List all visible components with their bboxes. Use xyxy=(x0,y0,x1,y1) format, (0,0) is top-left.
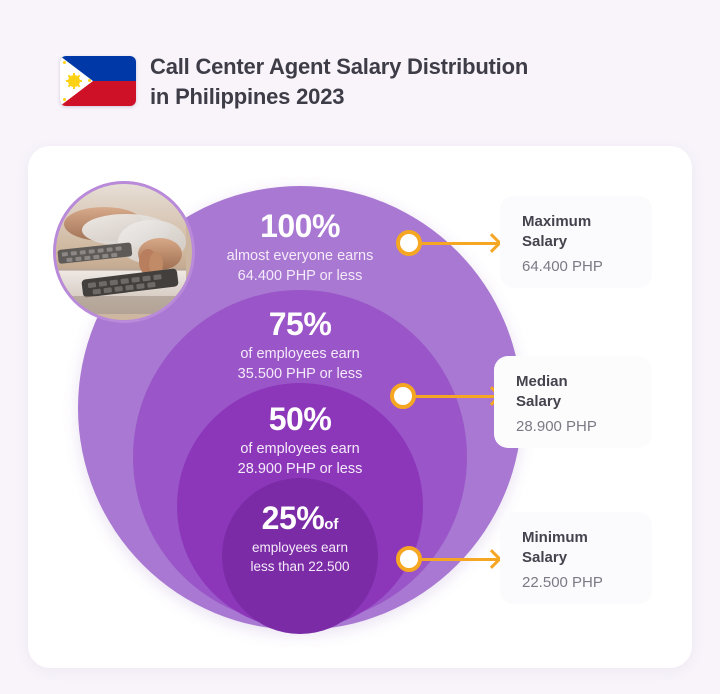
callout-minimum-amount: 22.500 PHP xyxy=(522,573,634,593)
page-title-line-2: in Philippines 2023 xyxy=(150,82,620,112)
callout-maximum-title-line-2: Salary xyxy=(522,232,634,252)
ring-25-percent-suffix: of xyxy=(324,516,338,533)
callout-maximum-title: Maximum Salary xyxy=(522,212,634,252)
connector-median xyxy=(390,381,498,411)
flag-star-icon xyxy=(88,79,91,82)
ring-25-percent-value: 25%of xyxy=(222,502,378,536)
agent-photo xyxy=(53,181,195,323)
connector-dot-icon xyxy=(390,383,416,409)
connector-arrow-icon xyxy=(415,395,498,398)
ring-25-description-line-1: employees earn xyxy=(222,538,378,557)
ring-50-percent-value: 50% xyxy=(177,403,423,437)
callout-minimum-salary: Minimum Salary 22.500 PHP xyxy=(500,512,652,604)
page-title-line-1: Call Center Agent Salary Distribution xyxy=(150,52,620,82)
connector-minimum xyxy=(396,544,498,574)
ring-25-label: 25%of employees earn less than 22.500 xyxy=(222,502,378,576)
callout-median-title-line-1: Median xyxy=(516,372,634,392)
callout-median-salary: Median Salary 28.900 PHP xyxy=(494,356,652,448)
connector-maximum xyxy=(396,228,498,258)
flag-star-icon xyxy=(63,98,66,101)
page-header: Call Center Agent Salary Distribution in… xyxy=(0,0,720,140)
callout-maximum-salary: Maximum Salary 64.400 PHP xyxy=(500,196,652,288)
callout-minimum-title-line-2: Salary xyxy=(522,548,634,568)
callout-maximum-title-line-1: Maximum xyxy=(522,212,634,232)
ring-50-description-line-1: of employees earn xyxy=(177,439,423,460)
philippines-flag-icon xyxy=(60,56,136,106)
connector-arrow-icon xyxy=(421,558,498,561)
agent-photo-image xyxy=(56,184,186,314)
ring-25-percent: 25%of employees earn less than 22.500 xyxy=(222,478,378,634)
ring-75-description-line-1: of employees earn xyxy=(133,344,467,365)
callout-maximum-amount: 64.400 PHP xyxy=(522,257,634,277)
connector-arrow-icon xyxy=(421,242,498,245)
flag-sun-icon xyxy=(68,75,80,87)
callout-median-amount: 28.900 PHP xyxy=(516,417,634,437)
callout-median-title: Median Salary xyxy=(516,372,634,412)
ring-25-percent-number: 25% xyxy=(262,500,325,536)
page-title: Call Center Agent Salary Distribution in… xyxy=(150,52,620,112)
callout-minimum-title-line-1: Minimum xyxy=(522,528,634,548)
flag-star-icon xyxy=(63,61,66,64)
callout-minimum-title: Minimum Salary xyxy=(522,528,634,568)
ring-75-label: 75% of employees earn 35.500 PHP or less xyxy=(133,308,467,385)
connector-dot-icon xyxy=(396,230,422,256)
ring-75-percent-value: 75% xyxy=(133,308,467,342)
ring-25-description-line-2: less than 22.500 xyxy=(222,557,378,576)
ring-50-label: 50% of employees earn 28.900 PHP or less xyxy=(177,403,423,480)
connector-dot-icon xyxy=(396,546,422,572)
callout-median-title-line-2: Salary xyxy=(516,392,634,412)
ring-50-description-line-2: 28.900 PHP or less xyxy=(177,459,423,480)
